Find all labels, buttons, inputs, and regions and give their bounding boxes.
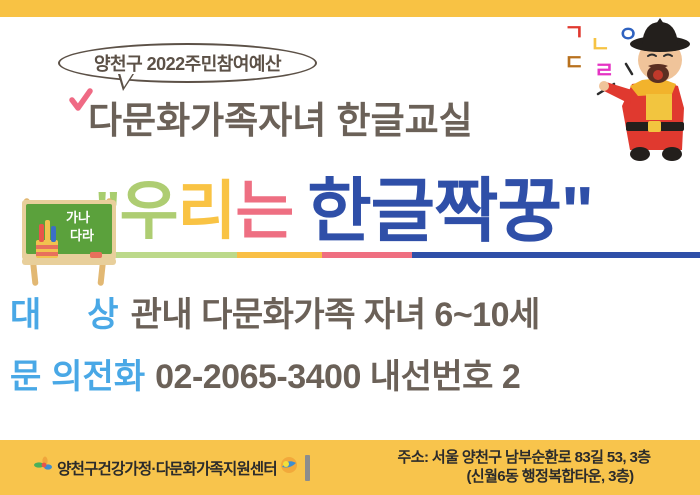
svg-text:ㄱ: ㄱ — [564, 20, 584, 45]
headline-syllable-2: 리 — [178, 179, 236, 243]
headline-slogan: " 우 리 는 한글짝꿍 " — [95, 168, 593, 254]
footer-center-name: 양천구건강가정·다문화가족지원센터 — [57, 457, 277, 479]
headline-word-blue: 한글짝꿍 — [307, 176, 561, 246]
row-target-value: 관내 다문화가족 자녀 6~10세 — [131, 287, 540, 336]
row-phone-label-1: 문 — [10, 349, 41, 398]
svg-text:ㄴ: ㄴ — [590, 32, 610, 57]
footer-address-line-2: (신월6동 행정복합타운, 3층) — [415, 468, 634, 487]
underline-segment-yellow — [237, 252, 322, 258]
footer-bar: 양천구건강가정·다문화가족지원센터 주소: 서울 양천구 남부순환로 83길 5… — [0, 440, 700, 495]
row-phone-label-2: 의전화 — [51, 349, 145, 398]
speech-bubble-tail-inner — [120, 73, 133, 87]
poster-root: 양천구 2022주민참여예산 다문화가족자녀 한글교실 " 우 리 는 한글짝꿍… — [0, 0, 700, 495]
speech-bubble: 양천구 2022주민참여예산 — [58, 43, 317, 83]
headline-close-quote: " — [561, 176, 593, 246]
headline-syllable-3: 는 — [235, 179, 293, 243]
svg-text:다라: 다라 — [70, 228, 94, 243]
svg-text:ㄹ: ㄹ — [594, 58, 614, 83]
footer-divider — [305, 455, 310, 481]
center-logo-icon — [34, 455, 54, 480]
footer-address: 주소: 서울 양천구 남부순환로 83길 53, 3층 (신월6동 행정복합타운… — [348, 449, 700, 487]
svg-text:ㄷ: ㄷ — [564, 50, 584, 75]
row-phone: 문 의전화 02-2065-3400 내선번호 2 — [10, 350, 520, 396]
king-sejong-illustration: ㄱ ㄴ ㅇ ㄷ ㄹ — [560, 18, 698, 183]
row-phone-value: 02-2065-3400 내선번호 2 — [155, 349, 520, 398]
svg-text:가나: 가나 — [66, 210, 90, 225]
blackboard-illustration: 가나 다라 — [14, 190, 126, 295]
footer-address-line-1: 주소: 서울 양천구 남부순환로 83길 53, 3층 — [398, 449, 651, 468]
headline-underline — [47, 252, 700, 258]
underline-segment-blue — [412, 252, 700, 258]
page-title: 다문화가족자녀 한글교실 — [88, 90, 588, 144]
headline-syllable-1: 우 — [120, 179, 178, 243]
family-center-logo-icon — [280, 456, 298, 479]
footer-organization: 양천구건강가정·다문화가족지원센터 — [0, 455, 348, 481]
top-accent-band — [0, 0, 700, 17]
underline-segment-pink — [322, 252, 412, 258]
